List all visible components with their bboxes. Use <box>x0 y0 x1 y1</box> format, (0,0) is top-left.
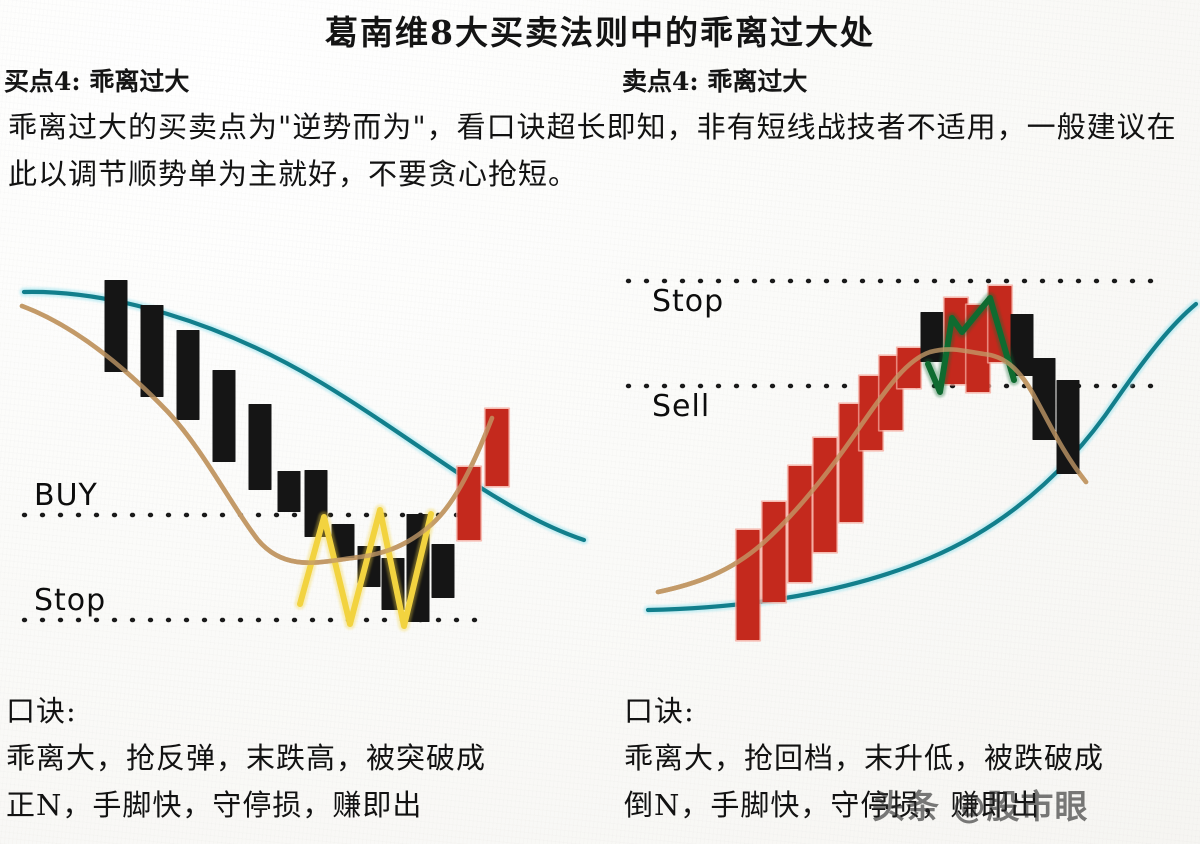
candle-body-down <box>213 370 236 462</box>
mnemonic-buy: 口诀: 乖离大，抢反弹，末跌高，被突破成 正N，手脚快，守停损，赚即出 <box>6 688 586 829</box>
candle <box>141 305 164 397</box>
candle <box>456 465 482 541</box>
buy-point-chart: BUYStop <box>0 262 600 662</box>
mnemonic-sell-header: 口诀: <box>624 688 1200 735</box>
candle <box>432 544 455 598</box>
candle <box>484 407 510 487</box>
candle-body-up <box>763 502 786 602</box>
subheading-sell: 卖点4: 乖离过大 <box>622 62 807 98</box>
sell-point-chart: StopSell <box>600 262 1200 662</box>
mnemonic-buy-header: 口诀: <box>6 688 586 735</box>
mnemonic-sell: 口诀: 乖离大，抢回档，末升低，被跌破成 倒N，手脚快，守停损，赚即出 <box>624 688 1200 829</box>
candle-body-down <box>177 330 200 420</box>
sell-point-chart-canvas <box>600 262 1200 662</box>
page-root: 葛南维8大买卖法则中的乖离过大处 买点4: 乖离过大 卖点4: 乖离过大 乖离过… <box>0 0 1200 844</box>
candle-body-up <box>458 467 481 540</box>
candle <box>278 471 301 512</box>
candle <box>249 404 272 490</box>
mnemonic-buy-line1: 乖离大，抢反弹，末跌高，被突破成 <box>6 735 586 782</box>
page-title: 葛南维8大买卖法则中的乖离过大处 <box>0 6 1200 54</box>
candle <box>213 370 236 462</box>
candle-body-down <box>432 544 455 598</box>
level-label-stop: Stop <box>652 284 724 319</box>
candle-body-down <box>278 471 301 512</box>
mnemonic-sell-line2: 倒N，手脚快，守停损，赚即出 <box>624 782 1200 829</box>
candle-body-up <box>814 438 837 552</box>
mnemonic-sell-line1: 乖离大，抢回档，末升低，被跌破成 <box>624 735 1200 782</box>
mnemonic-buy-line2: 正N，手脚快，守停损，赚即出 <box>6 782 586 829</box>
candle-body-down <box>141 305 164 397</box>
level-label-sell: Sell <box>652 389 710 424</box>
intro-paragraph: 乖离过大的买卖点为"逆势而为"，看口诀超长即知，非有短线战技者不适用，一般建议在… <box>8 104 1188 198</box>
level-label-buy: BUY <box>34 478 98 513</box>
candle <box>177 330 200 420</box>
level-label-stop: Stop <box>34 583 106 618</box>
candle-body-down <box>249 404 272 490</box>
subheading-buy: 买点4: 乖离过大 <box>4 62 189 98</box>
candle <box>787 464 813 583</box>
candle <box>761 500 787 603</box>
candle <box>812 436 838 553</box>
candle-body-up <box>789 466 812 582</box>
